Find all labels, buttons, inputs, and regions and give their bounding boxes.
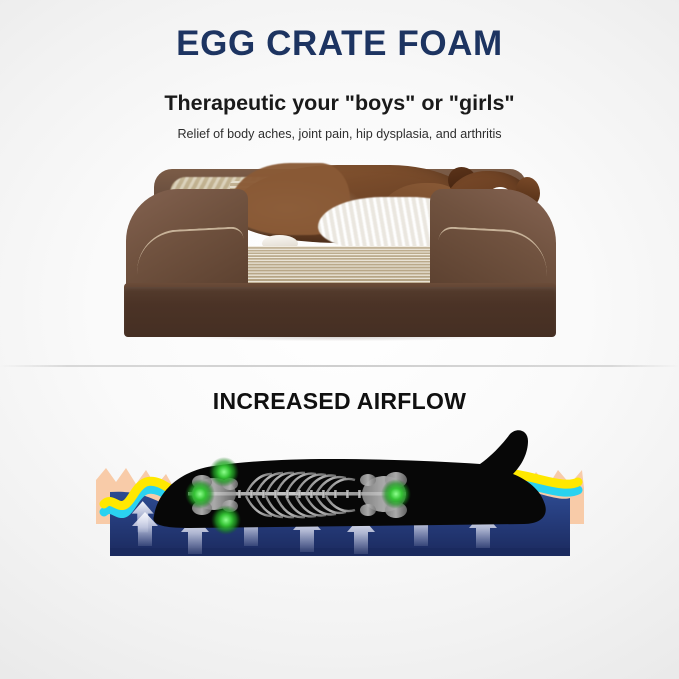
page-title: EGG CRATE FOAM bbox=[0, 26, 679, 61]
pressure-point bbox=[185, 479, 215, 509]
airflow-title: INCREASED AIRFLOW bbox=[0, 390, 679, 413]
bed-left-bolster bbox=[126, 189, 248, 293]
infographic-page: EGG CRATE FOAM Therapeutic your "boys" o… bbox=[0, 0, 679, 679]
pressure-point bbox=[211, 505, 241, 535]
bed-right-bolster bbox=[430, 189, 556, 293]
pressure-point bbox=[209, 457, 239, 487]
dog-bed-photo bbox=[112, 163, 567, 348]
panel-increased-airflow: INCREASED AIRFLOW bbox=[0, 366, 679, 679]
airflow-cross-section-diagram bbox=[96, 428, 584, 588]
dog-silhouette bbox=[153, 430, 545, 535]
tagline: Relief of body aches, joint pain, hip dy… bbox=[0, 128, 679, 141]
subtitle: Therapeutic your "boys" or "girls" bbox=[0, 93, 679, 115]
pressure-point bbox=[381, 479, 411, 509]
bed-base bbox=[124, 287, 556, 337]
panel-egg-crate-foam: EGG CRATE FOAM Therapeutic your "boys" o… bbox=[0, 0, 679, 366]
